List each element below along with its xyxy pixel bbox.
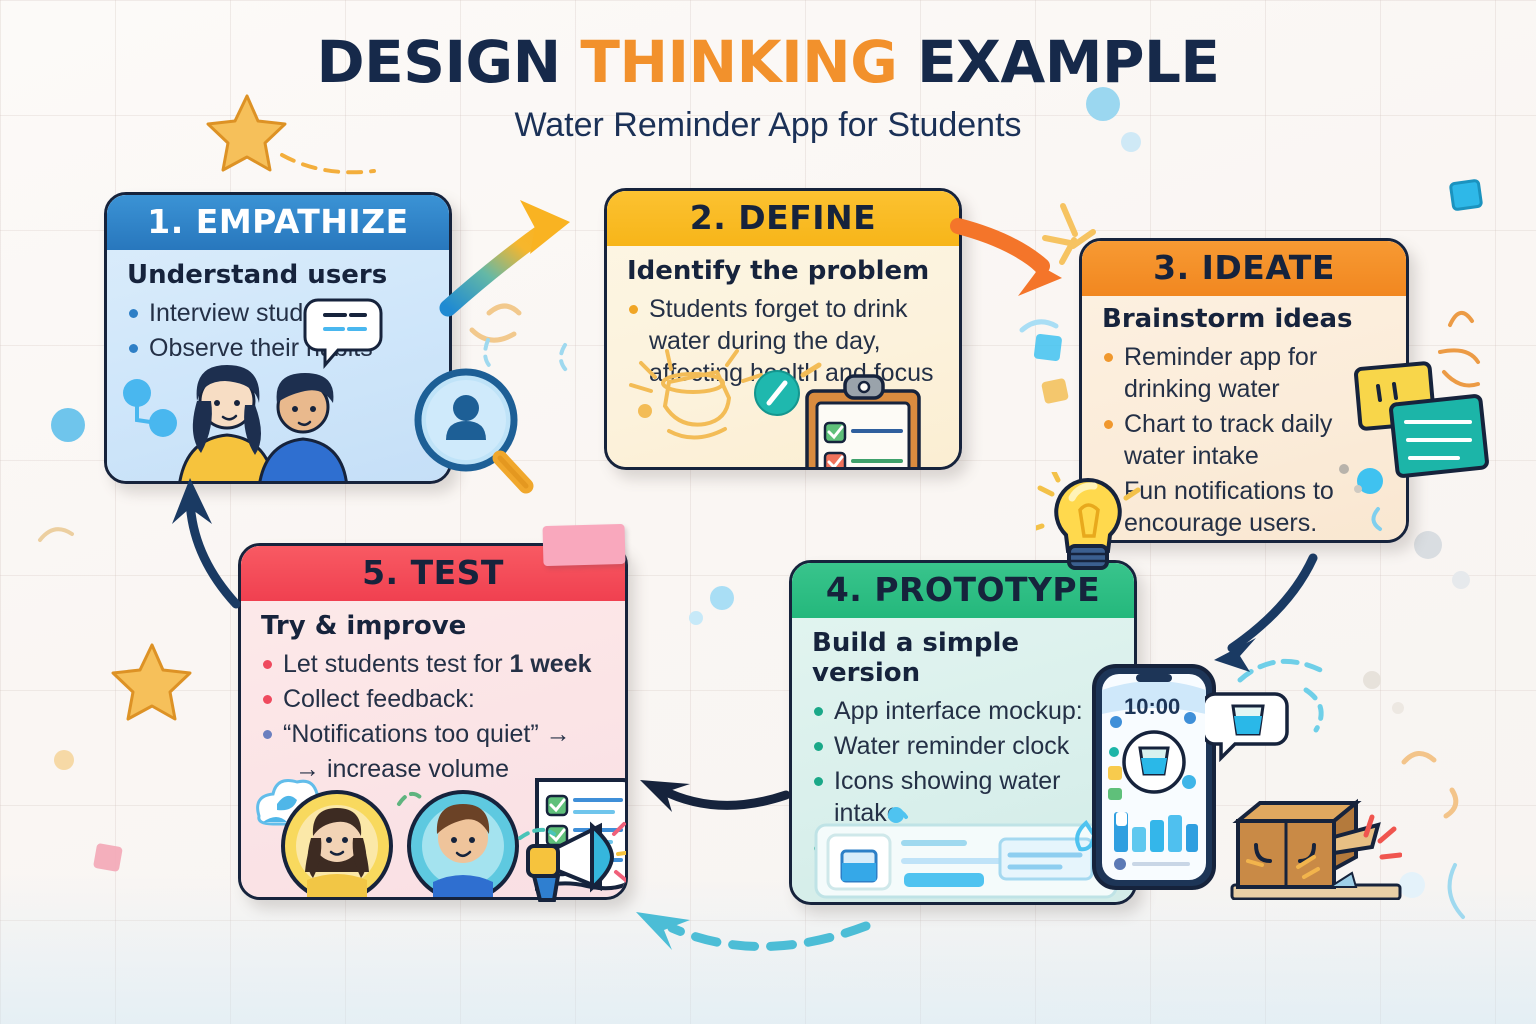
title-part-2: EXAMPLE xyxy=(897,28,1219,96)
lightbulb-icon xyxy=(1036,472,1146,582)
sticky-notes-group xyxy=(1354,360,1490,490)
card-prototype-art xyxy=(792,563,1137,905)
dot-grey xyxy=(1339,464,1349,474)
spark xyxy=(803,365,819,375)
page-title: DESIGN THINKING EXAMPLE xyxy=(0,28,1536,96)
phone-mockup[interactable]: 10:00 xyxy=(1090,662,1220,894)
teal-clock-icon xyxy=(755,371,799,415)
network-nodes-icon xyxy=(123,379,177,437)
title-part-1: DESIGN xyxy=(316,28,580,96)
phone-time: 10:00 xyxy=(1124,694,1180,719)
delivery-box-icon xyxy=(1222,775,1402,900)
page-subtitle: Water Reminder App for Students xyxy=(0,106,1536,145)
clipboard-checklist-icon xyxy=(807,376,919,470)
speech-bubble-icon xyxy=(305,300,381,365)
megaphone-sound-lines xyxy=(614,824,626,882)
wireframe-panel xyxy=(816,807,1116,897)
dashed-green xyxy=(399,794,423,804)
card-define-art xyxy=(607,191,962,470)
teal-sticky-note xyxy=(1390,395,1487,476)
empty-glass-icon xyxy=(631,351,761,438)
megaphone-icon xyxy=(510,820,626,906)
sticky-note-pink xyxy=(542,524,625,566)
magnifier-user-icon xyxy=(408,366,540,498)
card-prototype[interactable]: 4. PROTOTYPE Build a simple version App … xyxy=(789,560,1137,905)
card-define[interactable]: 2. DEFINE Identify the problem Students … xyxy=(604,188,962,470)
header: DESIGN THINKING EXAMPLE Water Reminder A… xyxy=(0,28,1536,145)
water-glass-bubble xyxy=(1205,690,1289,762)
card-empathize-art xyxy=(107,195,452,484)
dot-amber xyxy=(638,404,652,418)
student-avatar-female[interactable] xyxy=(283,792,391,900)
two-students-illustration xyxy=(179,365,347,484)
student-avatar-male[interactable] xyxy=(409,792,517,900)
title-highlight: THINKING xyxy=(580,28,897,96)
drop-swoosh xyxy=(1373,509,1380,529)
dashed-teal xyxy=(520,830,554,838)
card-empathize[interactable]: 1. EMPATHIZE Understand users Interview … xyxy=(104,192,452,484)
